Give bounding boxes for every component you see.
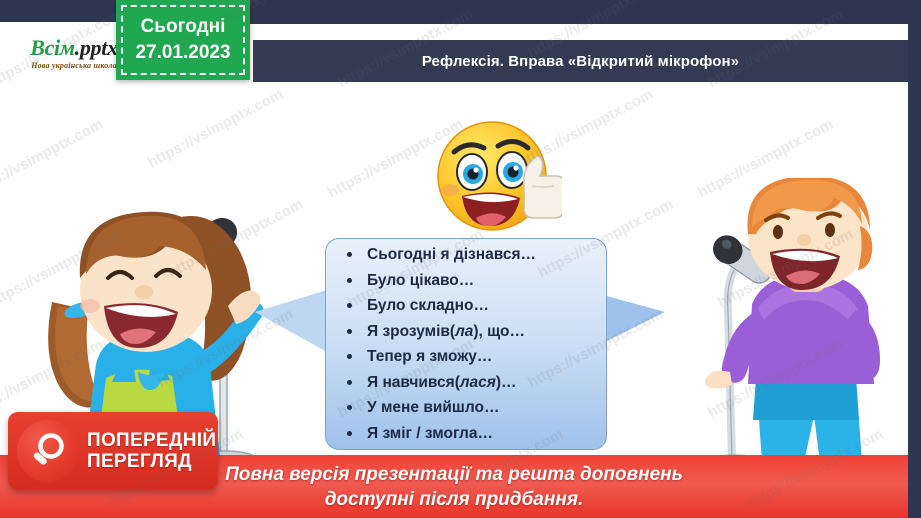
list-item: Тепер я зможу… <box>367 344 647 370</box>
date-badge: Сьогодні 27.01.2023 <box>116 0 250 80</box>
list-item-text: Я зміг / змогла… <box>367 425 493 442</box>
list-item-text: У мене вийшло… <box>367 399 499 416</box>
list-item: Я навчився(лася)… <box>367 370 647 396</box>
boy-singing-microphone <box>700 178 915 488</box>
preview-button-line1: ПОПЕРЕДНІЙ <box>87 430 216 451</box>
list-item-text: Сьогодні я дізнався… <box>367 246 536 263</box>
bubble-tail-left <box>255 290 327 352</box>
speech-bubble: Сьогодні я дізнався… Було цікаво… Було с… <box>255 238 665 460</box>
list-item-text: Було складно… <box>367 297 489 314</box>
list-item-text: Було цікаво… <box>367 272 474 289</box>
magnifier-icon <box>17 420 79 482</box>
list-item-post: ), що… <box>473 323 525 340</box>
brand-logo-text: Всім.pptx <box>30 37 118 59</box>
list-item-pre: Я навчився( <box>367 374 460 391</box>
preview-button[interactable]: ПОПЕРЕДНІЙ ПЕРЕГЛЯД <box>8 412 218 490</box>
page-title: Рефлексія. Вправа «Відкритий мікрофон» <box>422 53 739 70</box>
list-item: Я зміг / змогла… <box>367 421 647 447</box>
list-item: Було складно… <box>367 293 647 319</box>
slide-title-bar: Рефлексія. Вправа «Відкритий мікрофон» <box>253 40 908 82</box>
list-item: Було цікаво… <box>367 268 647 294</box>
presentation-slide: Сьогодні я дізнався… Було цікаво… Було с… <box>0 0 921 518</box>
list-item-post: )… <box>496 374 517 391</box>
date-badge-date: 27.01.2023 <box>135 40 230 66</box>
list-item: У мене вийшло… <box>367 395 647 421</box>
list-item: Я зрозумів(ла), що… <box>367 319 647 345</box>
reflection-list: Сьогодні я дізнався… Було цікаво… Було с… <box>325 242 657 446</box>
date-badge-text: Сьогодні 27.01.2023 <box>135 14 230 65</box>
list-item-pre: Я зрозумів( <box>367 323 455 340</box>
list-item-emphasis: ла <box>455 323 473 340</box>
list-item-emphasis: лася <box>460 374 496 391</box>
brand-name-secondary: .pptx <box>75 35 118 60</box>
preview-button-label: ПОПЕРЕДНІЙ ПЕРЕГЛЯД <box>87 430 216 472</box>
smiley-thumbs-up-icon <box>432 112 562 242</box>
purchase-notice-line1: Повна версія презентації та решта доповн… <box>225 462 683 487</box>
brand-tagline: Нова українська школа <box>31 61 117 70</box>
list-item: Сьогодні я дізнався… <box>367 242 647 268</box>
purchase-notice-line2: доступні після придбання. <box>225 487 683 512</box>
date-badge-label: Сьогодні <box>135 14 230 40</box>
preview-button-line2: ПЕРЕГЛЯД <box>87 451 216 472</box>
brand-name-primary: Всім <box>30 35 74 60</box>
list-item-text: Тепер я зможу… <box>367 348 492 365</box>
purchase-notice-text: Повна версія презентації та решта доповн… <box>225 462 683 512</box>
